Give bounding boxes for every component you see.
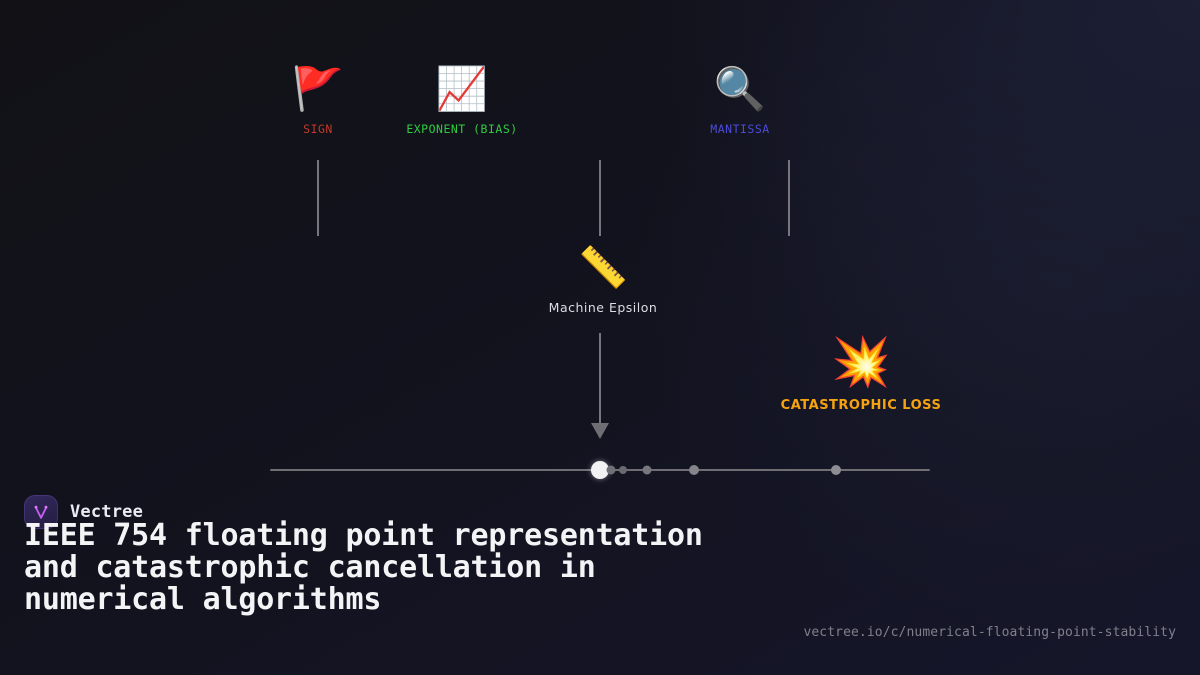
page-title: IEEE 754 floating point representation a…	[24, 520, 724, 616]
source-url: vectree.io/c/numerical-floating-point-st…	[803, 625, 1176, 640]
slide-canvas: 🚩SIGN📈EXPONENT (BIAS)🔍MANTISSA📏Machine E…	[0, 0, 1200, 675]
slide-footer: Vectree IEEE 754 floating point represen…	[0, 0, 1200, 675]
